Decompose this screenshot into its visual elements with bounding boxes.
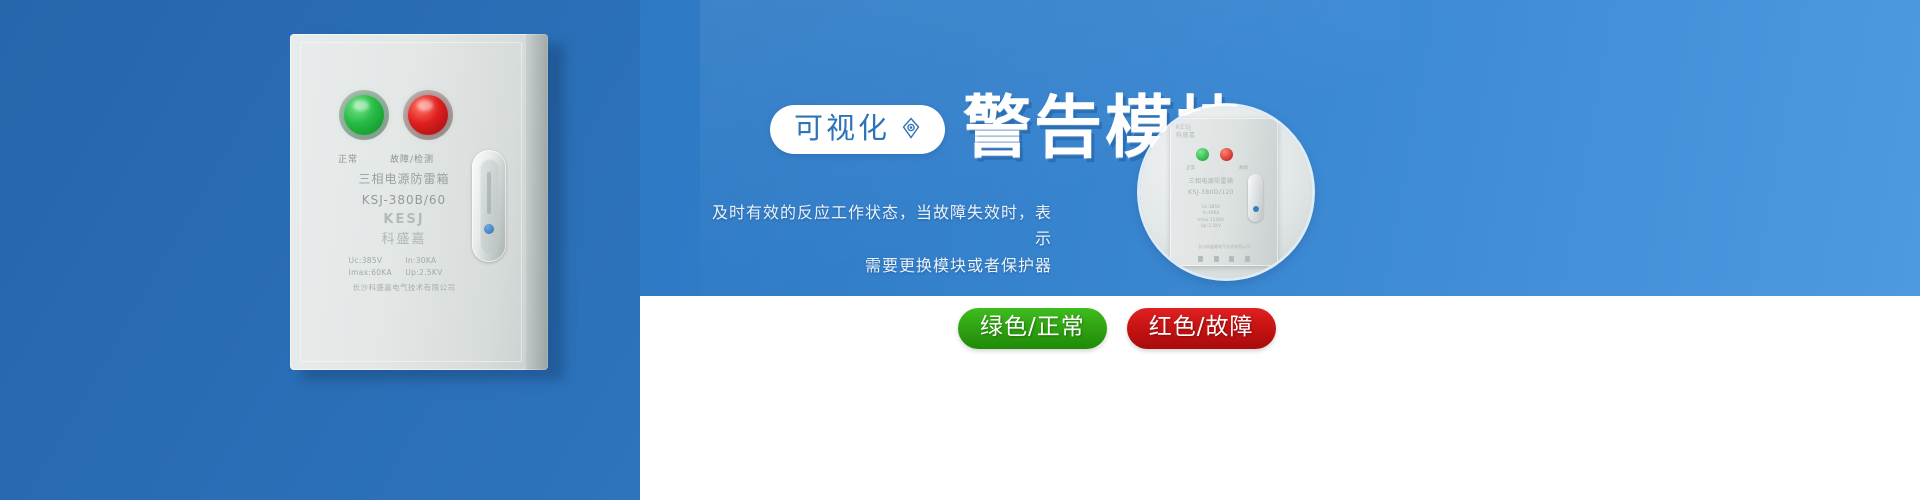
product-photo: 正常 故障/检测 三相电源防雷箱 KSJ-380B/60 KESJ 科盛嘉 Uc… bbox=[290, 34, 560, 374]
brand-chinese: 科盛嘉 bbox=[314, 228, 494, 247]
spec-in: In:30KA bbox=[405, 255, 459, 267]
subtitle: 及时有效的反应工作状态，当故障失效时，表示 需要更换模块或者保护器 bbox=[700, 200, 1052, 279]
inset-brand-latin: KESJ bbox=[1176, 124, 1196, 132]
status-badge-group: 绿色/正常 红色/故障 bbox=[958, 308, 1276, 349]
product-enclosure: 正常 故障/检测 三相电源防雷箱 KSJ-380B/60 KESJ 科盛嘉 Uc… bbox=[290, 34, 548, 370]
inset-panel-text: 三相电源防雷箱 KSJ-380D/120 Uc:385V In:40KA Ima… bbox=[1178, 176, 1244, 230]
status-badge-normal[interactable]: 绿色/正常 bbox=[958, 308, 1107, 349]
brand-latin: KESJ bbox=[314, 212, 494, 227]
lamp-label-normal: 正常 bbox=[338, 152, 358, 165]
eye-diamond-icon bbox=[899, 116, 923, 140]
terminal bbox=[1229, 256, 1234, 262]
inset-enclosure: KESJ 科盛嘉 正常 故障 三相电源防雷箱 KSJ-380D/120 Uc:3… bbox=[1170, 118, 1278, 266]
door-latch-handle bbox=[472, 150, 506, 262]
inset-company-footer: 长沙科盛嘉电气技术有限公司 bbox=[1174, 244, 1274, 250]
inset-brand: KESJ 科盛嘉 bbox=[1176, 124, 1196, 140]
indicator-lamp-green bbox=[344, 95, 384, 135]
spec-imax: Imax:60KA bbox=[349, 267, 403, 279]
inset-product-name: 三相电源防雷箱 bbox=[1178, 176, 1244, 185]
inset-latch-dot bbox=[1253, 206, 1259, 212]
subtitle-line-1: 及时有效的反应工作状态，当故障失效时，表示 bbox=[700, 200, 1052, 253]
spec-row: Uc:385V In:30KA bbox=[314, 255, 494, 267]
spec-row: Imax:60KA Up:2.5KV bbox=[314, 267, 494, 279]
product-panel-text: 三相电源防雷箱 KSJ-380B/60 KESJ 科盛嘉 Uc:385V In:… bbox=[314, 170, 494, 278]
inset-brand-chinese: 科盛嘉 bbox=[1176, 132, 1196, 140]
status-badge-fault[interactable]: 红色/故障 bbox=[1127, 308, 1276, 349]
warning-module-banner: 正常 故障/检测 三相电源防雷箱 KSJ-380B/60 KESJ 科盛嘉 Uc… bbox=[0, 0, 1920, 500]
product-specs: Uc:385V In:30KA Imax:60KA Up:2.5KV bbox=[314, 255, 494, 278]
indicator-lamp-red bbox=[408, 95, 448, 135]
lamp-face-red bbox=[408, 95, 448, 135]
lamp-face-green bbox=[344, 95, 384, 135]
subtitle-line-2: 需要更换模块或者保护器 bbox=[700, 253, 1052, 279]
inset-lamp-green bbox=[1196, 148, 1209, 161]
inset-product-model: KSJ-380D/120 bbox=[1178, 189, 1244, 196]
inset-latch-handle bbox=[1248, 174, 1263, 222]
product-name: 三相电源防雷箱 bbox=[314, 170, 494, 187]
inset-specs: Uc:385V In:40KA Imax:120KA Up:2.5KV bbox=[1178, 204, 1244, 230]
spec-uc: Uc:385V bbox=[349, 255, 403, 267]
inset-lamp-labels: 正常 故障 bbox=[1186, 165, 1248, 171]
terminal bbox=[1198, 256, 1203, 262]
lamp-label-fault: 故障/检测 bbox=[390, 152, 434, 165]
product-model: KSJ-380B/60 bbox=[314, 193, 494, 207]
inset-lamp-label-normal: 正常 bbox=[1186, 165, 1195, 171]
latch-lock-dot bbox=[484, 224, 494, 234]
terminal bbox=[1214, 256, 1219, 262]
spec-up: Up:2.5KV bbox=[405, 267, 459, 279]
enclosure-right-edge bbox=[526, 34, 548, 370]
visualization-tag-label: 可视化 bbox=[794, 114, 890, 143]
inset-lamp-label-fault: 故障 bbox=[1239, 165, 1248, 171]
product-inset-circle: KESJ 科盛嘉 正常 故障 三相电源防雷箱 KSJ-380D/120 Uc:3… bbox=[1140, 106, 1312, 278]
inset-lamp-red bbox=[1220, 148, 1233, 161]
terminal bbox=[1245, 256, 1250, 262]
company-footer: 长沙科盛嘉电气技术有限公司 bbox=[302, 282, 506, 293]
inset-terminals bbox=[1198, 256, 1250, 262]
inset-spec-up: Up:2.5KV bbox=[1178, 223, 1244, 229]
visualization-tag: 可视化 bbox=[770, 105, 945, 154]
latch-slot bbox=[487, 172, 491, 214]
